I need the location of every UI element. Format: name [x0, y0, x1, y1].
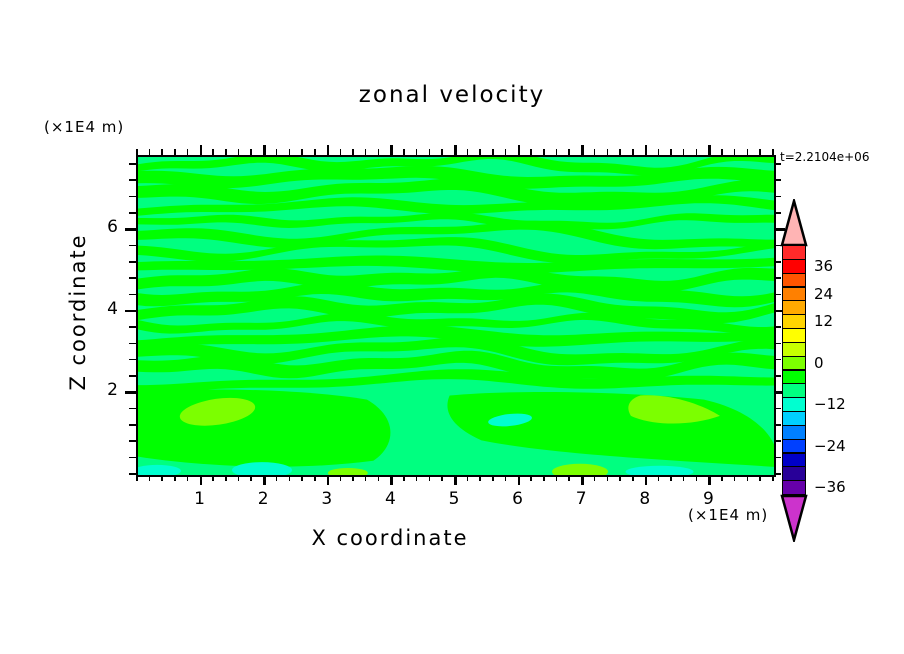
tick-mark — [774, 261, 781, 263]
tick-mark — [301, 475, 303, 481]
tick-mark — [301, 149, 303, 155]
tick-mark — [772, 149, 774, 155]
tick-mark — [129, 277, 136, 279]
tick-mark — [378, 149, 380, 155]
x-tick-label: 1 — [180, 489, 220, 509]
tick-mark — [734, 149, 736, 155]
tick-mark — [238, 149, 240, 155]
tick-mark — [581, 145, 584, 155]
tick-mark — [670, 475, 672, 481]
tick-mark — [543, 475, 545, 481]
colorbar-cell — [782, 466, 806, 481]
tick-mark — [263, 475, 266, 485]
tick-mark — [187, 149, 189, 155]
x-tick-label: 8 — [625, 489, 665, 509]
colorbar-cell — [782, 314, 806, 329]
tick-mark — [129, 440, 136, 442]
tick-mark — [314, 149, 316, 155]
tick-mark — [250, 475, 252, 481]
tick-mark — [774, 440, 781, 442]
tick-mark — [645, 145, 648, 155]
colorbar-cell — [782, 300, 806, 315]
tick-mark — [467, 149, 469, 155]
tick-mark — [161, 149, 163, 155]
tick-mark — [774, 375, 781, 377]
tick-mark — [136, 475, 138, 481]
tick-mark — [129, 163, 136, 165]
tick-mark — [734, 475, 736, 481]
tick-mark — [479, 475, 481, 481]
tick-mark — [774, 343, 781, 345]
x-axis-unit-label: (×1E4 m) — [688, 506, 768, 524]
colorbar-tick-label: 12 — [814, 312, 833, 330]
tick-mark — [212, 149, 214, 155]
tick-mark — [289, 475, 291, 481]
colorbar-top-arrow-icon — [775, 199, 813, 247]
tick-mark — [403, 475, 405, 481]
colorbar-cell — [782, 342, 806, 357]
colorbar-cell — [782, 439, 806, 454]
tick-mark — [129, 196, 136, 198]
tick-mark — [340, 475, 342, 481]
y-tick-label: 2 — [78, 380, 118, 400]
tick-mark — [129, 424, 136, 426]
tick-mark — [187, 475, 189, 481]
tick-mark — [594, 149, 596, 155]
colorbar-cell — [782, 480, 806, 495]
colorbar-tick-label: −36 — [814, 478, 846, 496]
tick-mark — [149, 149, 151, 155]
y-tick-label: 4 — [78, 299, 118, 319]
tick-mark — [568, 475, 570, 481]
x-axis-title: X coordinate — [0, 526, 780, 550]
contour-region-green — [138, 389, 390, 466]
x-tick-label: 2 — [243, 489, 283, 509]
tick-mark — [696, 475, 698, 481]
tick-mark — [467, 475, 469, 481]
tick-mark — [441, 475, 443, 481]
tick-mark — [276, 475, 278, 481]
tick-mark — [619, 149, 621, 155]
tick-mark — [696, 149, 698, 155]
tick-mark — [530, 149, 532, 155]
tick-mark — [774, 196, 781, 198]
x-tick-label: 4 — [370, 489, 410, 509]
tick-mark — [479, 149, 481, 155]
colorbar-cell — [782, 370, 806, 385]
tick-mark — [774, 326, 781, 328]
chart-title: zonal velocity — [0, 82, 904, 108]
tick-mark — [416, 475, 418, 481]
tick-mark — [607, 475, 609, 481]
tick-mark — [774, 163, 781, 165]
tick-mark — [149, 475, 151, 481]
tick-mark — [543, 149, 545, 155]
tick-mark — [129, 261, 136, 263]
tick-mark — [225, 149, 227, 155]
tick-mark — [352, 149, 354, 155]
tick-mark — [632, 149, 634, 155]
plot-area — [136, 155, 776, 477]
tick-mark — [721, 475, 723, 481]
tick-mark — [129, 473, 136, 475]
tick-mark — [505, 149, 507, 155]
tick-mark — [174, 475, 176, 481]
tick-mark — [378, 475, 380, 481]
tick-mark — [352, 475, 354, 481]
tick-mark — [129, 294, 136, 296]
x-tick-label: 6 — [498, 489, 538, 509]
tick-mark — [454, 145, 457, 155]
colorbar-tick-label: −12 — [814, 395, 846, 413]
tick-mark — [454, 475, 457, 485]
tick-mark — [518, 145, 521, 155]
tick-mark — [708, 475, 711, 485]
tick-mark — [125, 391, 136, 394]
colorbar: 3624120−12−24−36 — [782, 245, 806, 494]
tick-mark — [174, 149, 176, 155]
colorbar-tick-label: 24 — [814, 285, 833, 303]
tick-mark — [263, 145, 266, 155]
colorbar-cell — [782, 356, 806, 371]
tick-mark — [658, 475, 660, 481]
tick-mark — [505, 475, 507, 481]
tick-mark — [774, 408, 781, 410]
colorbar-cell — [782, 273, 806, 288]
tick-mark — [390, 475, 393, 485]
y-axis-unit-label: (×1E4 m) — [44, 118, 124, 136]
tick-mark — [568, 149, 570, 155]
tick-mark — [670, 149, 672, 155]
colorbar-tick-label: 36 — [814, 257, 833, 275]
tick-mark — [429, 149, 431, 155]
tick-mark — [200, 475, 203, 485]
colorbar-cell — [782, 453, 806, 468]
tick-mark — [759, 149, 761, 155]
tick-mark — [581, 475, 584, 485]
tick-mark — [619, 475, 621, 481]
tick-mark — [774, 473, 781, 475]
tick-mark — [683, 475, 685, 481]
tick-mark — [125, 228, 136, 231]
tick-mark — [774, 294, 781, 296]
tick-mark — [747, 149, 749, 155]
tick-mark — [721, 149, 723, 155]
colorbar-bottom-arrow-icon — [775, 494, 813, 542]
tick-mark — [607, 149, 609, 155]
tick-mark — [238, 475, 240, 481]
tick-mark — [774, 457, 781, 459]
tick-mark — [327, 475, 330, 485]
tick-mark — [129, 457, 136, 459]
tick-mark — [225, 475, 227, 481]
tick-mark — [441, 149, 443, 155]
tick-mark — [136, 149, 138, 155]
tick-mark — [429, 475, 431, 481]
x-tick-label: 7 — [561, 489, 601, 509]
colorbar-cell — [782, 328, 806, 343]
tick-mark — [129, 359, 136, 361]
tick-mark — [403, 149, 405, 155]
tick-mark — [161, 475, 163, 481]
tick-mark — [212, 475, 214, 481]
tick-mark — [759, 475, 761, 481]
tick-mark — [129, 408, 136, 410]
colorbar-cell — [782, 425, 806, 440]
tick-mark — [129, 326, 136, 328]
colorbar-cell — [782, 245, 806, 260]
tick-mark — [365, 149, 367, 155]
tick-mark — [772, 475, 774, 481]
tick-mark — [314, 475, 316, 481]
tick-mark — [530, 475, 532, 481]
tick-mark — [594, 475, 596, 481]
tick-mark — [683, 149, 685, 155]
tick-mark — [250, 149, 252, 155]
tick-mark — [129, 212, 136, 214]
tick-mark — [708, 145, 711, 155]
tick-mark — [774, 277, 781, 279]
tick-mark — [200, 145, 203, 155]
tick-mark — [390, 145, 393, 155]
tick-mark — [518, 475, 521, 485]
colorbar-cell — [782, 411, 806, 426]
tick-mark — [556, 475, 558, 481]
tick-mark — [632, 475, 634, 481]
tick-mark — [365, 475, 367, 481]
timestamp-annotation: t=2.2104e+06 — [780, 150, 869, 164]
tick-mark — [129, 375, 136, 377]
tick-mark — [492, 149, 494, 155]
colorbar-cell — [782, 259, 806, 274]
colorbar-cell — [782, 397, 806, 412]
tick-mark — [774, 424, 781, 426]
tick-mark — [289, 149, 291, 155]
x-tick-label: 3 — [307, 489, 347, 509]
contour-field — [138, 157, 774, 475]
tick-mark — [129, 179, 136, 181]
tick-mark — [492, 475, 494, 481]
x-tick-label: 5 — [434, 489, 474, 509]
tick-mark — [747, 475, 749, 481]
tick-mark — [416, 149, 418, 155]
tick-mark — [658, 149, 660, 155]
tick-mark — [774, 179, 781, 181]
tick-mark — [327, 145, 330, 155]
colorbar-tick-label: 0 — [814, 354, 824, 372]
tick-mark — [645, 475, 648, 485]
colorbar-cell — [782, 383, 806, 398]
y-tick-label: 6 — [78, 217, 118, 237]
tick-mark — [556, 149, 558, 155]
tick-mark — [129, 245, 136, 247]
colorbar-cell — [782, 287, 806, 302]
tick-mark — [340, 149, 342, 155]
tick-mark — [129, 343, 136, 345]
tick-mark — [125, 310, 136, 313]
colorbar-tick-label: −24 — [814, 437, 846, 455]
tick-mark — [276, 149, 278, 155]
tick-mark — [774, 359, 781, 361]
